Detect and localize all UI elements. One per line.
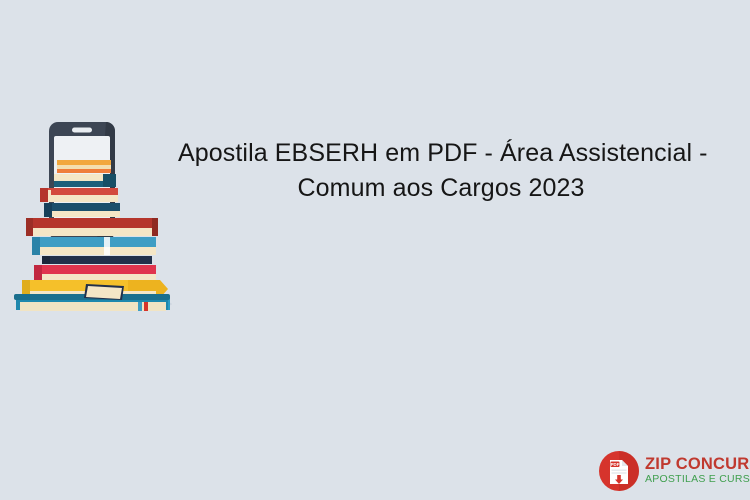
brand-tagline: APOSTILAS E CURSOS	[645, 473, 750, 486]
pdf-download-icon: PDF	[598, 450, 640, 492]
page-title: Apostila EBSERH em PDF - Área Assistenci…	[178, 136, 704, 206]
brand-name: ZIP CONCURSOS	[645, 456, 750, 473]
svg-text:PDF: PDF	[611, 462, 620, 467]
book-cream-teal	[54, 174, 116, 187]
book-pink	[34, 265, 156, 281]
book-darknavy	[42, 256, 152, 264]
brand-logo[interactable]: PDF ZIP CONCURSOS APOSTILAS E CURSOS	[598, 449, 744, 493]
title-line-1: Apostila EBSERH em PDF - Área Assistenci…	[178, 136, 704, 171]
title-line-2: Comum aos Cargos 2023	[178, 171, 704, 206]
book-stack-illustration	[8, 118, 180, 313]
promo-banner: Apostila EBSERH em PDF - Área Assistenci…	[0, 0, 750, 500]
book-darkred	[26, 218, 158, 236]
book-orange-top	[57, 160, 111, 173]
brand-text: ZIP CONCURSOS APOSTILAS E CURSOS	[645, 456, 750, 486]
book-navy-upper	[44, 203, 120, 217]
book-red-upper	[40, 188, 118, 202]
book-open-small	[84, 284, 124, 300]
book-blue-mid	[32, 237, 156, 255]
